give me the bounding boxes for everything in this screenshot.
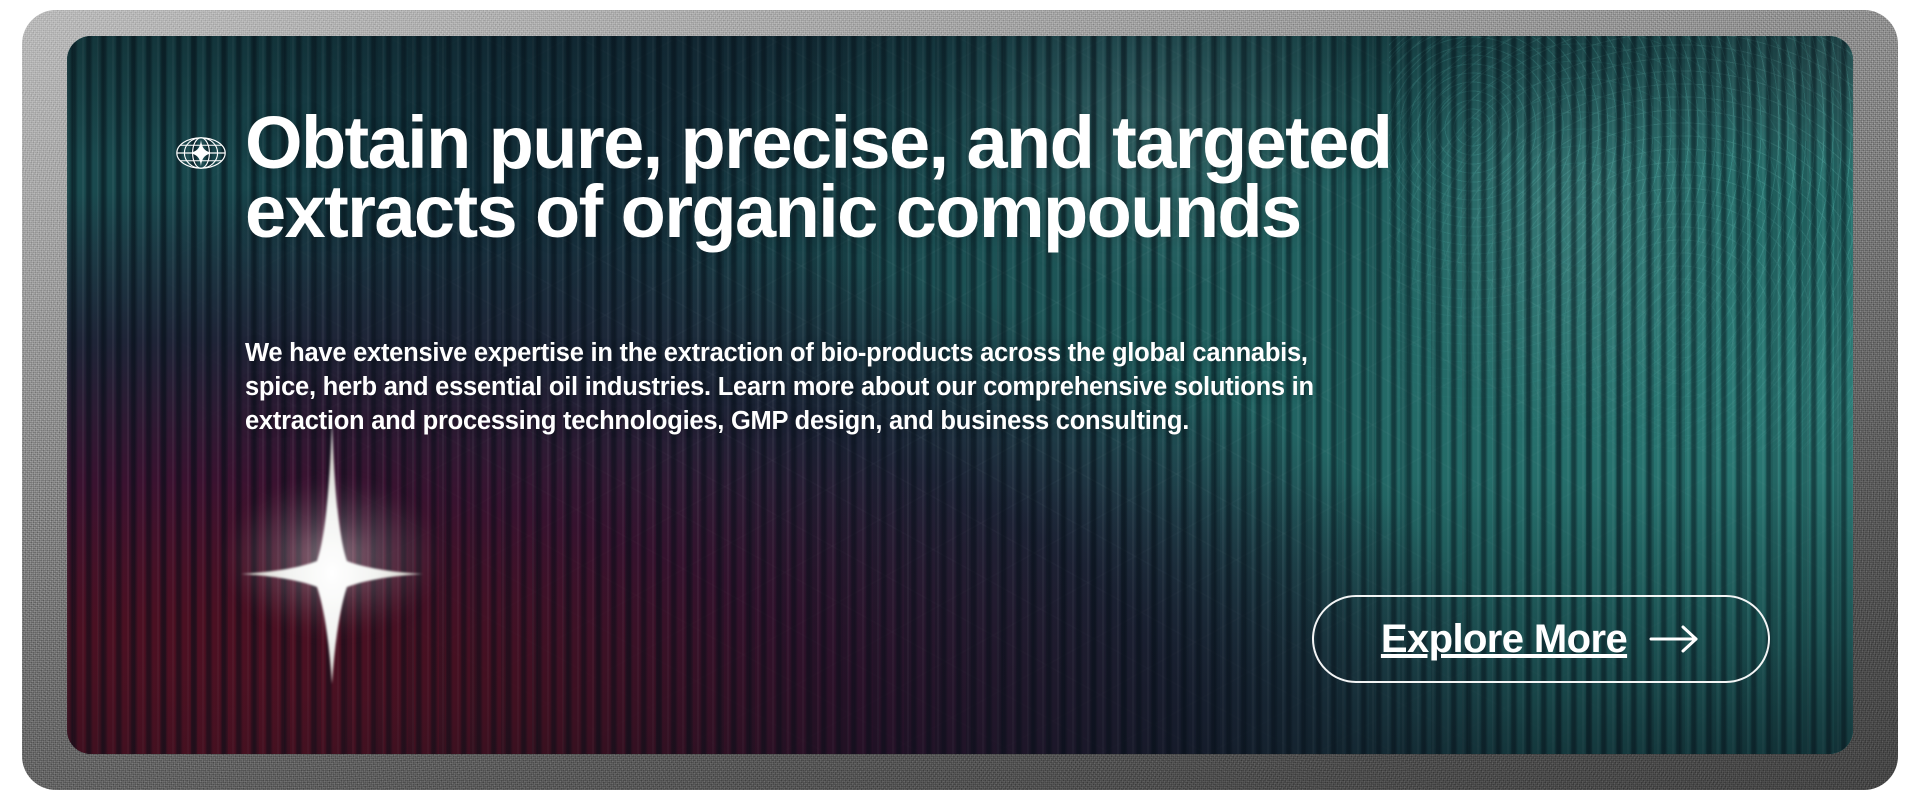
banner-headline: Obtain pure, precise, and targeted extra…: [245, 109, 1505, 247]
arrow-right-icon: [1649, 624, 1701, 654]
banner-panel: Obtain pure, precise, and targeted extra…: [67, 36, 1853, 754]
globe-sparkle-icon: [175, 133, 227, 173]
hero-banner: Obtain pure, precise, and targeted extra…: [0, 0, 1920, 800]
explore-more-button[interactable]: Explore More: [1312, 595, 1770, 683]
banner-subcopy: We have extensive expertise in the extra…: [245, 336, 1375, 438]
explore-more-label: Explore More: [1381, 617, 1627, 662]
